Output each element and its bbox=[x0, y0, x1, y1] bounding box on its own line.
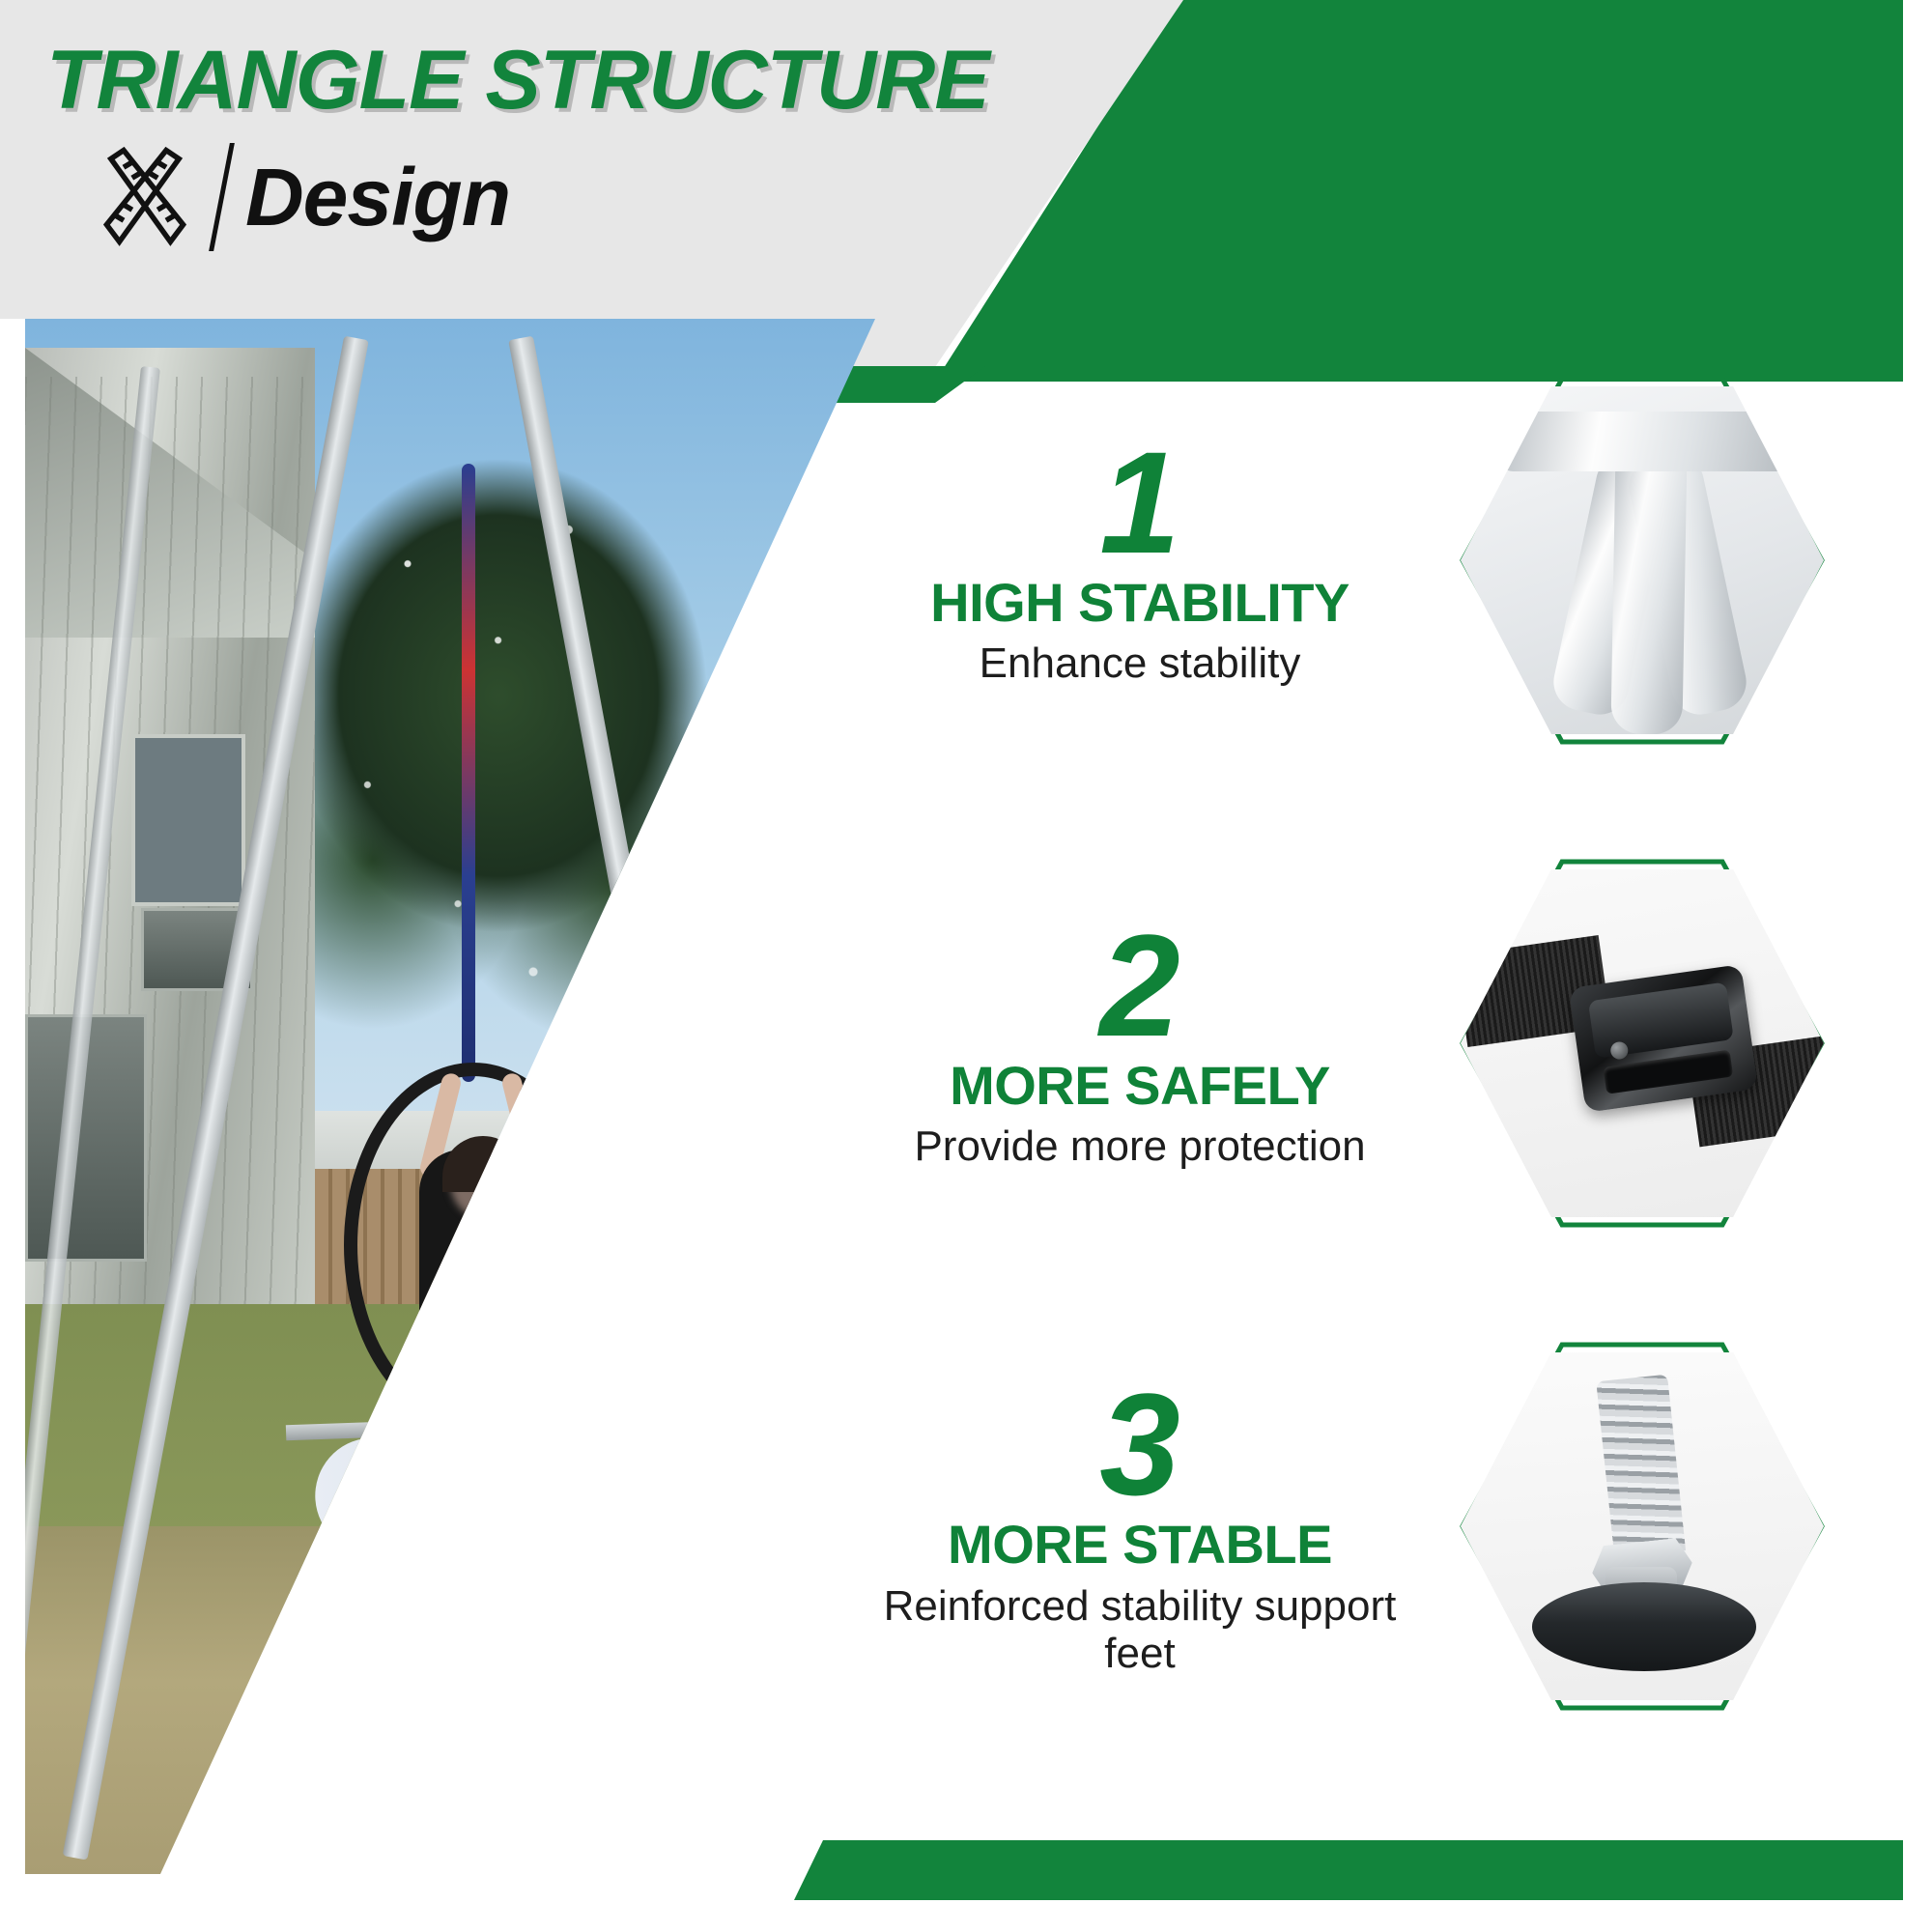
feature-list: 1 HIGH STABILITY Enhance stability bbox=[850, 328, 1903, 1874]
feature-3-text: 3 MORE STABLE Reinforced stability suppo… bbox=[850, 1376, 1439, 1677]
feature-3-title: MORE STABLE bbox=[850, 1517, 1430, 1572]
infographic-root: TRIANGLE STRUCTURE Design bbox=[0, 0, 1932, 1932]
feature-2-text: 2 MORE SAFELY Provide more protection bbox=[850, 917, 1439, 1171]
product-lifestyle-photo bbox=[25, 319, 875, 1874]
header-subtitle-row: Design bbox=[92, 143, 510, 251]
feature-3-image-hex bbox=[1439, 1333, 1845, 1719]
feature-3-description: Reinforced stability support feet bbox=[850, 1582, 1430, 1678]
feature-1-number: 1 bbox=[850, 434, 1430, 572]
feature-item-2: 2 MORE SAFELY Provide more protection bbox=[850, 831, 1903, 1256]
header-separator bbox=[209, 143, 235, 251]
feature-2-description: Provide more protection bbox=[850, 1122, 1430, 1170]
feature-1-description: Enhance stability bbox=[850, 639, 1430, 687]
feature-2-title: MORE SAFELY bbox=[850, 1058, 1430, 1113]
feature-item-3: 3 MORE STABLE Reinforced stability suppo… bbox=[850, 1314, 1903, 1739]
page-title: TRIANGLE STRUCTURE bbox=[46, 33, 989, 128]
footer-green-bar bbox=[0, 1840, 1932, 1900]
frame-left bbox=[0, 319, 25, 1932]
frame-right bbox=[1903, 0, 1932, 1932]
feature-1-image-hex bbox=[1439, 367, 1845, 753]
ruler-pencil-icon bbox=[92, 144, 198, 250]
feature-item-1: 1 HIGH STABILITY Enhance stability bbox=[850, 348, 1903, 773]
feature-1-title: HIGH STABILITY bbox=[850, 575, 1430, 630]
feature-3-number: 3 bbox=[850, 1376, 1430, 1514]
header-subtitle: Design bbox=[245, 156, 510, 238]
frame-bottom bbox=[0, 1901, 1932, 1932]
feature-2-image-hex bbox=[1439, 850, 1845, 1236]
feature-2-number: 2 bbox=[850, 917, 1430, 1055]
feature-1-text: 1 HIGH STABILITY Enhance stability bbox=[850, 434, 1439, 688]
